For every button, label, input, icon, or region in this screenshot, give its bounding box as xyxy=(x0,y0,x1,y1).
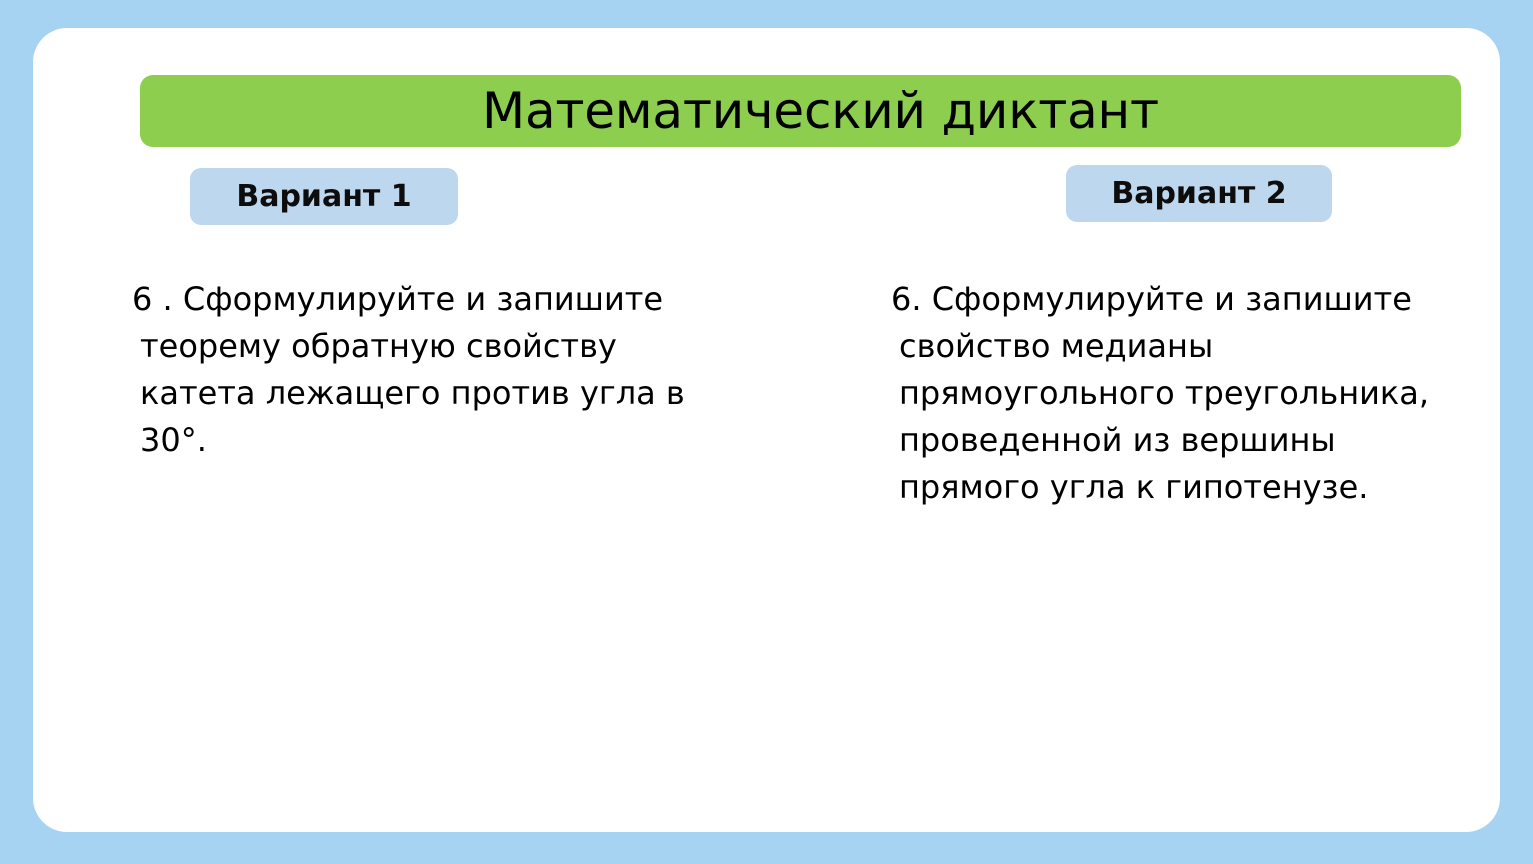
variant-2-badge: Вариант 2 xyxy=(1066,165,1332,222)
title-banner: Математический диктант xyxy=(140,75,1461,147)
variant-1-question-text: 6 . Сформулируйте и запишите теорему обр… xyxy=(132,276,732,464)
variant-1-badge-label: Вариант 1 xyxy=(236,182,411,212)
variant-1-badge: Вариант 1 xyxy=(190,168,458,225)
slide: Математический диктант Вариант 1 Вариант… xyxy=(0,0,1533,864)
variant-2-question-text: 6. Сформулируйте и запишите свойство мед… xyxy=(891,276,1471,511)
slide-content-card: Математический диктант Вариант 1 Вариант… xyxy=(33,28,1500,832)
variant-2-badge-label: Вариант 2 xyxy=(1111,179,1286,209)
page-title: Математический диктант xyxy=(482,86,1159,136)
